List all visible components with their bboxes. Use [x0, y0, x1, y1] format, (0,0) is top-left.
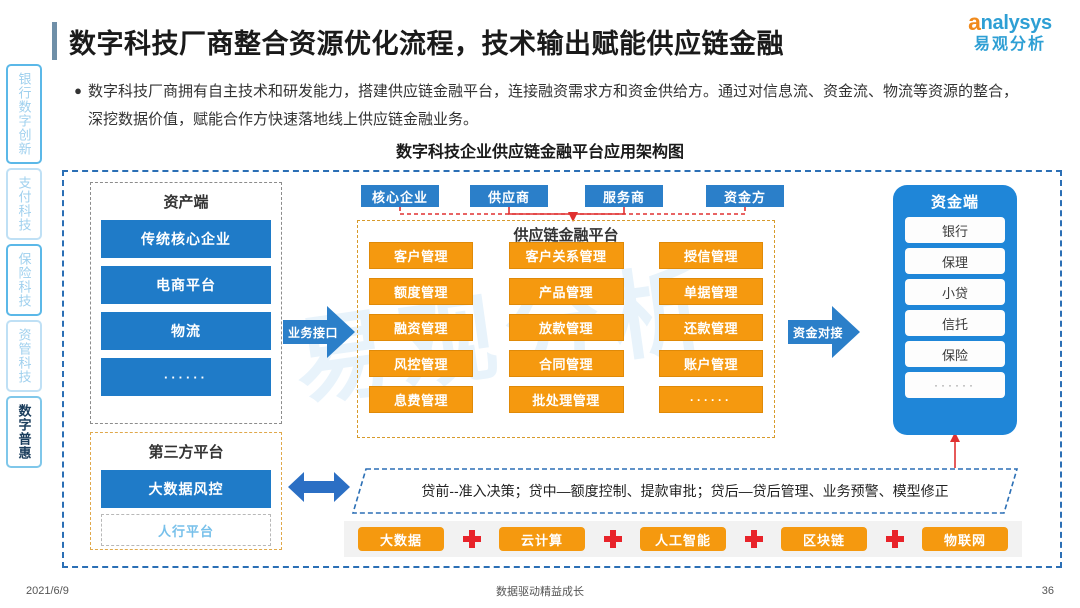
slide-canvas: 数字科技厂商整合资源优化流程，技术输出赋能供应链金融 analysys 易观分析…	[0, 0, 1080, 608]
sidebar-item-inclusive-finance[interactable]: 数字普惠	[6, 396, 42, 468]
module-document-mgmt[interactable]: 单据管理	[659, 278, 763, 305]
plus-icon	[745, 530, 763, 548]
module-batch-processing-mgmt[interactable]: 批处理管理	[509, 386, 624, 413]
loan-lifecycle-text: 贷前--准入决策；贷中—额度控制、提款审批；贷后—贷后管理、业务预警、模型修正	[352, 468, 1018, 514]
sidebar-tabs: 银行数字创新 支付科技 保险科技 资管科技 数字普惠	[6, 64, 42, 468]
fund-side-panel: 资金端 银行 保理 小贷 信托 保险 ······	[893, 185, 1017, 435]
module-credit-granting-mgmt[interactable]: 授信管理	[659, 242, 763, 269]
asset-item-logistics[interactable]: 物流	[101, 312, 271, 350]
analysys-logo: analysys 易观分析	[954, 10, 1066, 53]
bullet-marker-icon: ●	[68, 78, 88, 134]
logo-wordmark: analysys	[954, 10, 1066, 33]
module-fee-mgmt[interactable]: 息费管理	[369, 386, 473, 413]
tech-blockchain[interactable]: 区块链	[781, 527, 867, 551]
fund-item-bank[interactable]: 银行	[905, 217, 1005, 243]
module-risk-control-mgmt[interactable]: 风控管理	[369, 350, 473, 377]
tech-ai[interactable]: 人工智能	[640, 527, 726, 551]
asset-side-panel: 资产端 传统核心企业 电商平台 物流 ······	[90, 182, 282, 424]
sidebar-item-label: 支付科技	[15, 176, 34, 232]
asset-item-more[interactable]: ······	[101, 358, 271, 396]
footer: 2021/6/9 数据驱动精益成长 36	[0, 580, 1080, 602]
sidebar-item-label: 保险科技	[15, 252, 34, 308]
asset-item-core-enterprise[interactable]: 传统核心企业	[101, 220, 271, 258]
arrow-left-right-icon	[288, 470, 350, 504]
role-tag-core-enterprise[interactable]: 核心企业	[361, 185, 439, 207]
asset-side-title: 资产端	[91, 191, 281, 212]
fund-item-insurance[interactable]: 保险	[905, 341, 1005, 367]
sidebar-item-label: 资管科技	[15, 328, 34, 384]
footer-page-number: 36	[1042, 585, 1054, 597]
fund-docking-arrow: 资金对接	[788, 304, 860, 360]
platform-column-3: 授信管理 单据管理 还款管理 账户管理 ······	[659, 242, 763, 413]
figure-title: 数字科技企业供应链金融平台应用架构图	[0, 138, 1080, 162]
asset-item-ecommerce[interactable]: 电商平台	[101, 266, 271, 304]
module-loan-disbursement-mgmt[interactable]: 放款管理	[509, 314, 624, 341]
platform-column-2: 客户关系管理 产品管理 放款管理 合同管理 批处理管理	[509, 242, 624, 413]
role-tag-supplier[interactable]: 供应商	[470, 185, 548, 207]
loan-lifecycle-panel: 贷前--准入决策；贷中—额度控制、提款审批；贷后—贷后管理、业务预警、模型修正	[352, 468, 1018, 514]
bullet-paragraph: 数字科技厂商拥有自主技术和研发能力，搭建供应链金融平台，连接融资需求方和资金供给…	[88, 78, 1018, 134]
third-party-title: 第三方平台	[91, 441, 281, 462]
fund-item-more[interactable]: ······	[905, 372, 1005, 398]
title-text: 数字科技厂商整合资源优化流程，技术输出赋能供应链金融	[69, 22, 784, 61]
fund-docking-label: 资金对接	[793, 324, 843, 341]
logo-sub-text: 易观分析	[954, 37, 1066, 53]
tech-bigdata[interactable]: 大数据	[358, 527, 444, 551]
platform-module-grid: 客户管理 额度管理 融资管理 风控管理 息费管理 客户关系管理 产品管理 放款管…	[357, 242, 775, 413]
plus-icon	[604, 530, 622, 548]
logo-swoosh-icon: a	[968, 11, 981, 34]
sidebar-item-label: 数字普惠	[15, 404, 34, 460]
module-more[interactable]: ······	[659, 386, 763, 413]
tech-stack-bar: 大数据 云计算 人工智能 区块链 物联网	[344, 521, 1022, 557]
summary-bullet: ● 数字科技厂商拥有自主技术和研发能力，搭建供应链金融平台，连接融资需求方和资金…	[68, 78, 1018, 134]
plus-icon	[463, 530, 481, 548]
module-contract-mgmt[interactable]: 合同管理	[509, 350, 624, 377]
business-interface-label: 业务接口	[288, 324, 338, 341]
title-accent-rule	[52, 22, 57, 60]
footer-slogan: 数据驱动精益成长	[0, 583, 1080, 599]
plus-icon	[886, 530, 904, 548]
third-party-pboc-platform[interactable]: 人行平台	[101, 514, 271, 546]
module-account-mgmt[interactable]: 账户管理	[659, 350, 763, 377]
third-party-panel: 第三方平台 大数据风控 人行平台	[90, 432, 282, 550]
fund-item-microloan[interactable]: 小贷	[905, 279, 1005, 305]
logo-main-text: nalysys	[981, 12, 1052, 34]
fund-side-title: 资金端	[893, 191, 1017, 212]
sidebar-item-payment[interactable]: 支付科技	[6, 168, 42, 240]
sidebar-item-insurance[interactable]: 保险科技	[6, 244, 42, 316]
fund-item-factoring[interactable]: 保理	[905, 248, 1005, 274]
module-crm[interactable]: 客户关系管理	[509, 242, 624, 269]
module-credit-limit-mgmt[interactable]: 额度管理	[369, 278, 473, 305]
sidebar-item-asset-mgmt[interactable]: 资管科技	[6, 320, 42, 392]
fund-item-trust[interactable]: 信托	[905, 310, 1005, 336]
role-tag-capital-provider[interactable]: 资金方	[706, 185, 784, 207]
page-title: 数字科技厂商整合资源优化流程，技术输出赋能供应链金融	[52, 18, 912, 64]
platform-column-1: 客户管理 额度管理 融资管理 风控管理 息费管理	[369, 242, 473, 413]
role-tag-service-provider[interactable]: 服务商	[585, 185, 663, 207]
tech-iot[interactable]: 物联网	[922, 527, 1008, 551]
module-product-mgmt[interactable]: 产品管理	[509, 278, 624, 305]
module-customer-mgmt[interactable]: 客户管理	[369, 242, 473, 269]
business-interface-arrow: 业务接口	[283, 304, 355, 360]
third-party-bigdata-risk[interactable]: 大数据风控	[101, 470, 271, 508]
tech-cloud-computing[interactable]: 云计算	[499, 527, 585, 551]
module-repayment-mgmt[interactable]: 还款管理	[659, 314, 763, 341]
module-financing-mgmt[interactable]: 融资管理	[369, 314, 473, 341]
bidirectional-arrow	[288, 470, 350, 504]
